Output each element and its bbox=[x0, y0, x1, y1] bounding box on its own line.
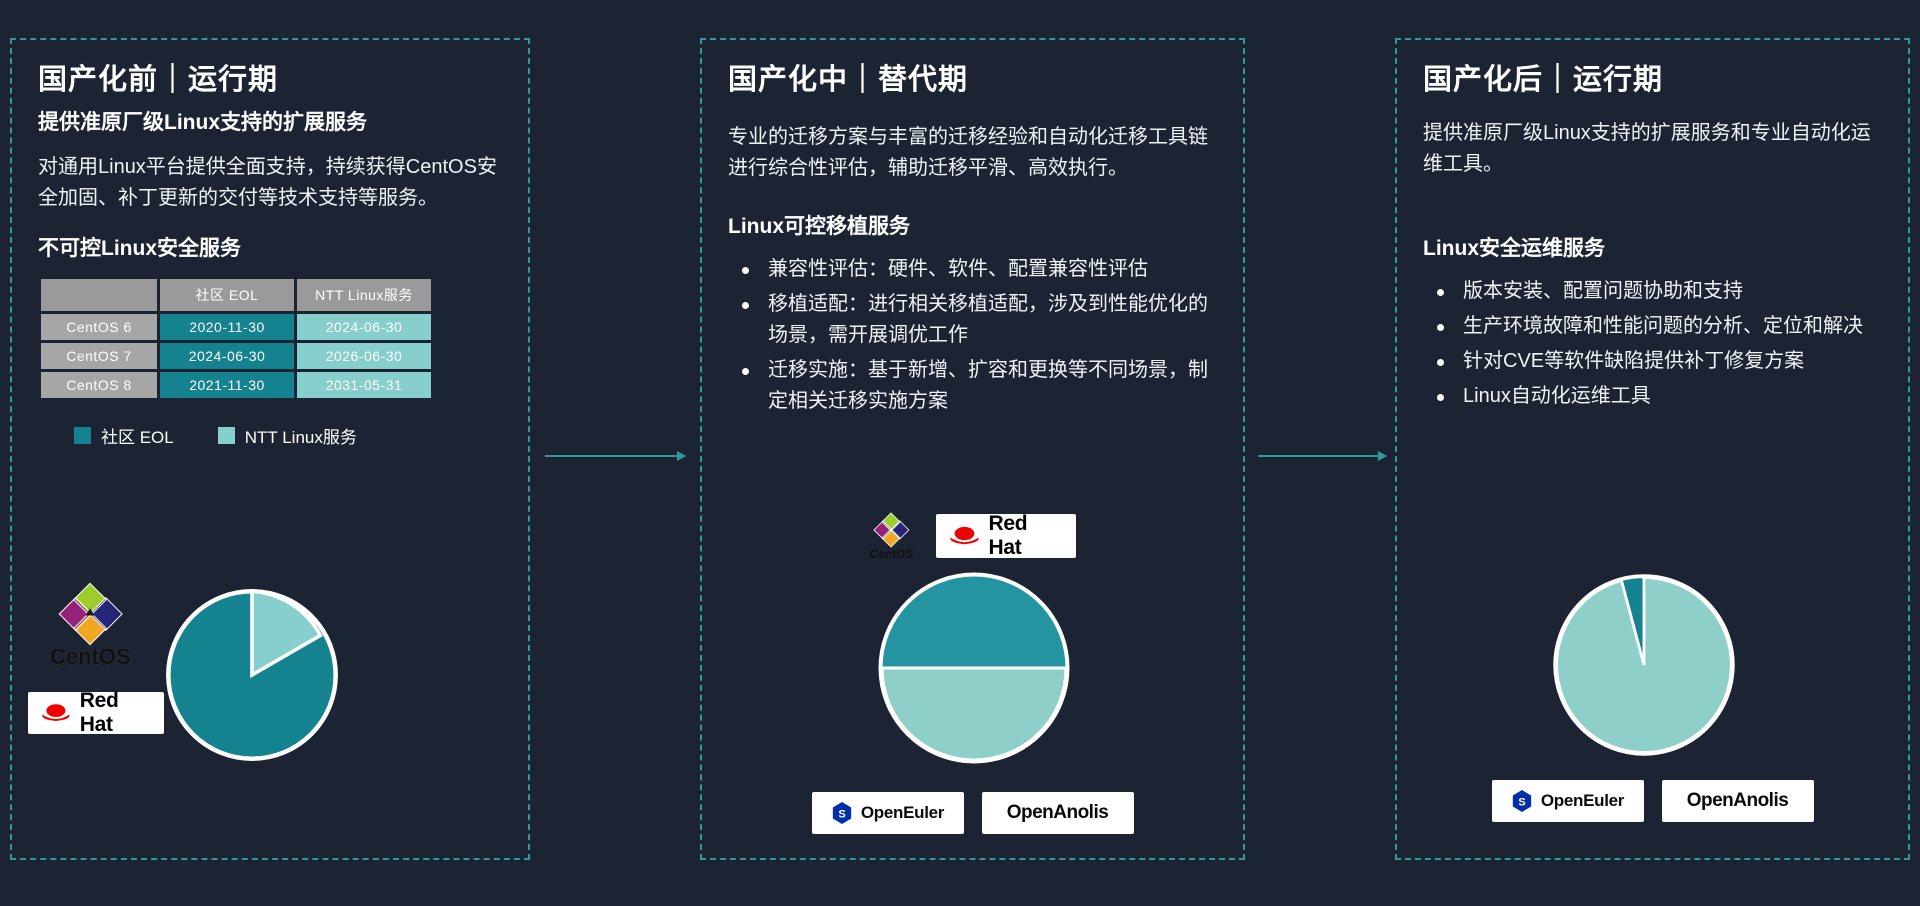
legend-label: 社区 EOL bbox=[101, 423, 174, 448]
panel-stage-after: 国产化后｜运行期 提供准原厂级Linux支持的扩展服务和专业自动化运维工具。 L… bbox=[1395, 38, 1910, 860]
table-cell-os: CentOS 7 bbox=[41, 343, 157, 369]
table-row: CentOS 7 2024-06-30 2026-06-30 bbox=[41, 343, 431, 369]
redhat-icon bbox=[40, 701, 72, 725]
centos-icon bbox=[871, 510, 911, 550]
top-logo-row: CentOS Red Hat bbox=[702, 510, 1243, 561]
panel-body-text: 专业的迁移方案与丰富的迁移经验和自动化迁移工具链进行综合性评估，辅助迁移平滑、高… bbox=[728, 122, 1217, 184]
pie-chart-during bbox=[874, 568, 1074, 768]
openanolis-logo-label: OpenAnolis bbox=[1687, 790, 1789, 812]
table-cell-community-eol: 2020-11-30 bbox=[160, 314, 294, 340]
panel-stage-before: 国产化前｜运行期 提供准原厂级Linux支持的扩展服务 对通用Linux平台提供… bbox=[10, 38, 530, 860]
list-item: 迁移实施：基于新增、扩容和更换等不同场景，制定相关迁移实施方案 bbox=[734, 355, 1217, 417]
svg-text:S: S bbox=[1518, 797, 1525, 809]
pie-chart-svg bbox=[1549, 570, 1739, 760]
table-header-row: 社区 EOL NTT Linux服务 bbox=[41, 279, 431, 311]
table-header-ntt-linux: NTT Linux服务 bbox=[297, 279, 431, 311]
list-item: 版本安装、配置问题协助和支持 bbox=[1429, 276, 1882, 307]
table-row: CentOS 8 2021-11-30 2031-05-31 bbox=[41, 372, 431, 398]
legend-swatch-icon bbox=[218, 427, 235, 444]
centos-logo-group: CentOS bbox=[50, 578, 131, 670]
panel-section-heading: Linux安全运维服务 bbox=[1423, 232, 1882, 262]
table-cell-ntt-eol: 2026-06-30 bbox=[297, 343, 431, 369]
list-item: 移植适配：进行相关移植适配，涉及到性能优化的场景，需开展调优工作 bbox=[734, 289, 1217, 351]
feature-list: 版本安装、配置问题协助和支持 生产环境故障和性能问题的分析、定位和解决 针对CV… bbox=[1423, 276, 1882, 412]
legend-label: NTT Linux服务 bbox=[245, 423, 357, 448]
panel-body-text: 对通用Linux平台提供全面支持，持续获得CentOS安全加固、补丁更新的交付等… bbox=[38, 152, 502, 214]
openeuler-icon: S bbox=[831, 801, 853, 825]
list-item: 生产环境故障和性能问题的分析、定位和解决 bbox=[1429, 311, 1882, 342]
legend-item-ntt-linux: NTT Linux服务 bbox=[218, 423, 357, 448]
openeuler-logo-group: S OpenEuler bbox=[1492, 780, 1644, 822]
panel-body-text: 提供准原厂级Linux支持的扩展服务和专业自动化运维工具。 bbox=[1423, 118, 1882, 180]
panel-section-heading: Linux可控移植服务 bbox=[728, 210, 1217, 240]
pie-chart-before bbox=[162, 585, 342, 765]
openanolis-logo-group: OpenAnolis bbox=[1662, 780, 1814, 822]
redhat-logo-group: Red Hat bbox=[936, 514, 1076, 558]
table-cell-ntt-eol: 2031-05-31 bbox=[297, 372, 431, 398]
openeuler-logo-group: S OpenEuler bbox=[812, 792, 964, 834]
panel-subtitle: 提供准原厂级Linux支持的扩展服务 bbox=[38, 108, 502, 138]
bottom-logo-row: S OpenEuler OpenAnolis bbox=[1397, 780, 1908, 822]
arrow-stage-1-to-2-icon bbox=[545, 455, 685, 457]
openeuler-logo-label: OpenEuler bbox=[861, 803, 944, 823]
chart-legend: 社区 EOL NTT Linux服务 bbox=[74, 423, 502, 448]
openanolis-logo-label: OpenAnolis bbox=[1007, 802, 1109, 824]
redhat-logo-group: Red Hat bbox=[28, 692, 164, 734]
panel-title: 国产化中｜替代期 bbox=[728, 62, 1217, 100]
redhat-logo-label: Red Hat bbox=[80, 689, 152, 737]
centos-logo-label: CentOS bbox=[869, 547, 913, 561]
bottom-logo-row: S OpenEuler OpenAnolis bbox=[702, 792, 1243, 834]
redhat-logo-label: Red Hat bbox=[989, 512, 1064, 560]
centos-logo-group: CentOS bbox=[869, 510, 913, 561]
panel-title: 国产化前｜运行期 bbox=[38, 62, 502, 100]
table-cell-ntt-eol: 2024-06-30 bbox=[297, 314, 431, 340]
redhat-icon bbox=[948, 524, 981, 548]
feature-list: 兼容性评估：硬件、软件、配置兼容性评估 移植适配：进行相关移植适配，涉及到性能优… bbox=[728, 254, 1217, 417]
panel-title: 国产化后｜运行期 bbox=[1423, 62, 1882, 100]
arrow-stage-2-to-3-icon bbox=[1258, 455, 1386, 457]
svg-text:S: S bbox=[838, 809, 845, 821]
eol-table: 社区 EOL NTT Linux服务 CentOS 6 2020-11-30 2… bbox=[38, 276, 434, 401]
panel-section-heading: 不可控Linux安全服务 bbox=[38, 232, 502, 262]
table-cell-os: CentOS 8 bbox=[41, 372, 157, 398]
table-cell-community-eol: 2024-06-30 bbox=[160, 343, 294, 369]
pie-chart-svg bbox=[162, 585, 342, 765]
openeuler-logo-label: OpenEuler bbox=[1541, 791, 1624, 811]
openeuler-icon: S bbox=[1511, 789, 1533, 813]
table-header-community-eol: 社区 EOL bbox=[160, 279, 294, 311]
table-row: CentOS 6 2020-11-30 2024-06-30 bbox=[41, 314, 431, 340]
openanolis-logo-group: OpenAnolis bbox=[982, 792, 1134, 834]
pie-chart-after bbox=[1549, 570, 1739, 760]
pie-chart-svg bbox=[874, 568, 1074, 768]
table-cell-community-eol: 2021-11-30 bbox=[160, 372, 294, 398]
panel-stage-during: 国产化中｜替代期 专业的迁移方案与丰富的迁移经验和自动化迁移工具链进行综合性评估… bbox=[700, 38, 1245, 860]
slide-canvas: 国产化前｜运行期 提供准原厂级Linux支持的扩展服务 对通用Linux平台提供… bbox=[0, 0, 1920, 906]
table-header-blank bbox=[41, 279, 157, 311]
list-item: 兼容性评估：硬件、软件、配置兼容性评估 bbox=[734, 254, 1217, 285]
legend-item-community-eol: 社区 EOL bbox=[74, 423, 174, 448]
list-item: 针对CVE等软件缺陷提供补丁修复方案 bbox=[1429, 346, 1882, 377]
legend-swatch-icon bbox=[74, 427, 91, 444]
centos-logo-label: CentOS bbox=[50, 644, 131, 670]
list-item: Linux自动化运维工具 bbox=[1429, 381, 1882, 412]
centos-icon bbox=[54, 578, 126, 650]
table-cell-os: CentOS 6 bbox=[41, 314, 157, 340]
